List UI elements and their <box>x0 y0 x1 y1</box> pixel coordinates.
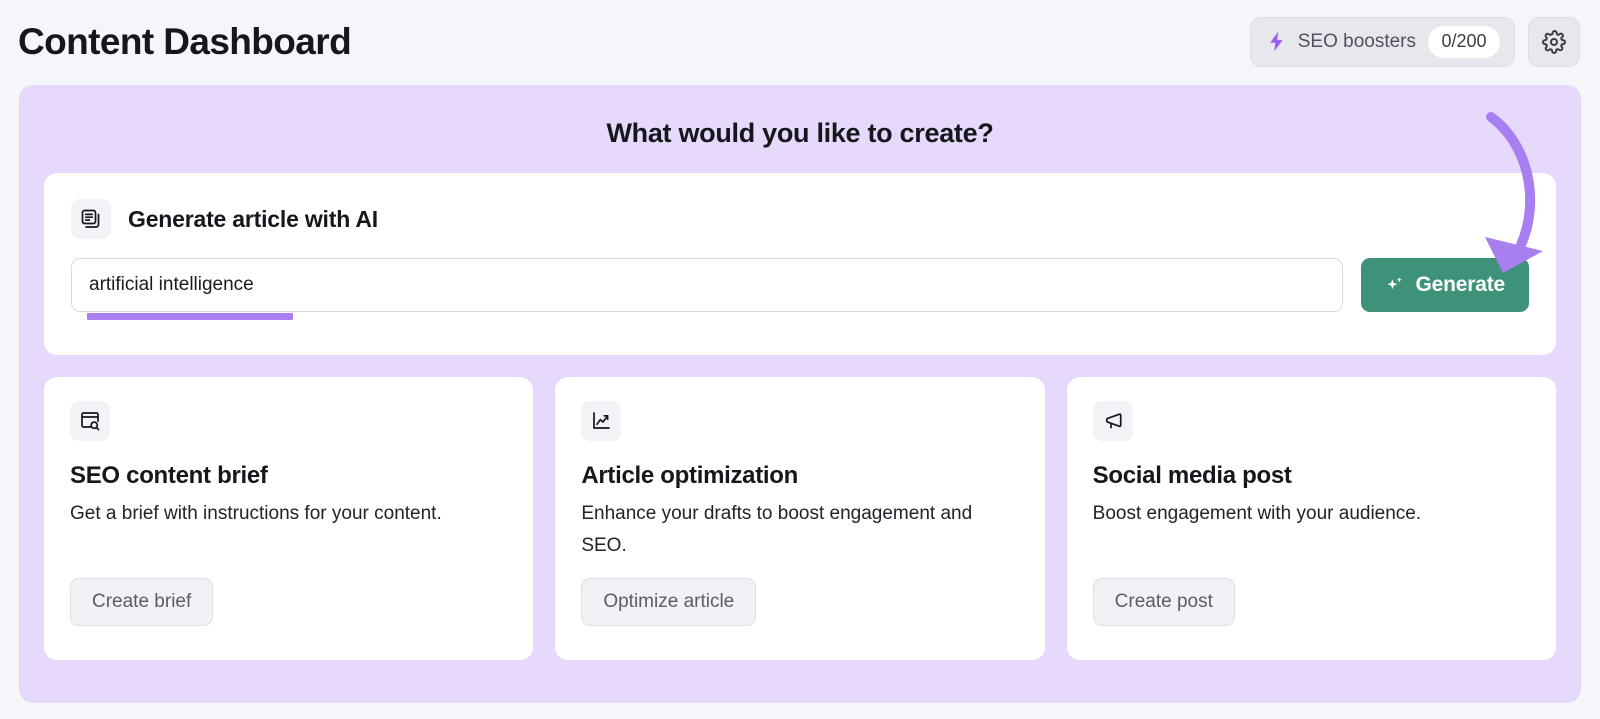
card-article-optimization[interactable]: Article optimization Enhance your drafts… <box>555 377 1044 660</box>
megaphone-icon <box>1093 401 1133 441</box>
line-chart-icon <box>581 401 621 441</box>
generate-button[interactable]: Generate <box>1361 258 1529 312</box>
generate-button-label: Generate <box>1416 273 1505 297</box>
generate-card-header: Generate article with AI <box>44 173 1556 239</box>
card-description: Boost engagement with your audience. <box>1093 498 1488 530</box>
panel-title: What would you like to create? <box>19 118 1581 149</box>
topic-input-wrapper <box>71 258 1343 312</box>
create-post-button[interactable]: Create post <box>1093 578 1235 626</box>
generate-input-row: Generate <box>44 239 1556 312</box>
seo-boosters-label: SEO boosters <box>1298 31 1416 53</box>
create-brief-button[interactable]: Create brief <box>70 578 213 626</box>
optimize-article-button[interactable]: Optimize article <box>581 578 756 626</box>
card-social-media-post[interactable]: Social media post Boost engagement with … <box>1067 377 1556 660</box>
generate-article-card: Generate article with AI Generate <box>44 173 1556 355</box>
topic-input[interactable] <box>71 258 1343 312</box>
sparkles-icon <box>1385 275 1405 295</box>
seo-boosters-count: 0/200 <box>1428 26 1500 58</box>
article-document-icon <box>71 199 111 239</box>
create-panel: What would you like to create? Generate … <box>19 85 1581 703</box>
input-highlight-underline <box>87 313 293 320</box>
card-title: Article optimization <box>581 462 1018 490</box>
feature-cards: SEO content brief Get a brief with instr… <box>44 377 1556 660</box>
card-title: SEO content brief <box>70 462 507 490</box>
card-title: Social media post <box>1093 462 1530 490</box>
seo-boosters-pill[interactable]: SEO boosters 0/200 <box>1250 17 1515 67</box>
content-dashboard-page: Content Dashboard SEO boosters 0/200 <box>0 0 1600 719</box>
page-title: Content Dashboard <box>18 23 351 60</box>
generate-card-title: Generate article with AI <box>128 206 378 233</box>
gear-icon <box>1542 30 1566 54</box>
card-seo-content-brief[interactable]: SEO content brief Get a brief with instr… <box>44 377 533 660</box>
browser-search-icon <box>70 401 110 441</box>
top-bar: Content Dashboard SEO boosters 0/200 <box>0 0 1600 83</box>
lightning-bolt-icon <box>1267 31 1286 52</box>
top-bar-actions: SEO boosters 0/200 <box>1250 17 1580 67</box>
settings-button[interactable] <box>1528 17 1580 67</box>
card-description: Enhance your drafts to boost engagement … <box>581 498 976 562</box>
card-description: Get a brief with instructions for your c… <box>70 498 465 530</box>
